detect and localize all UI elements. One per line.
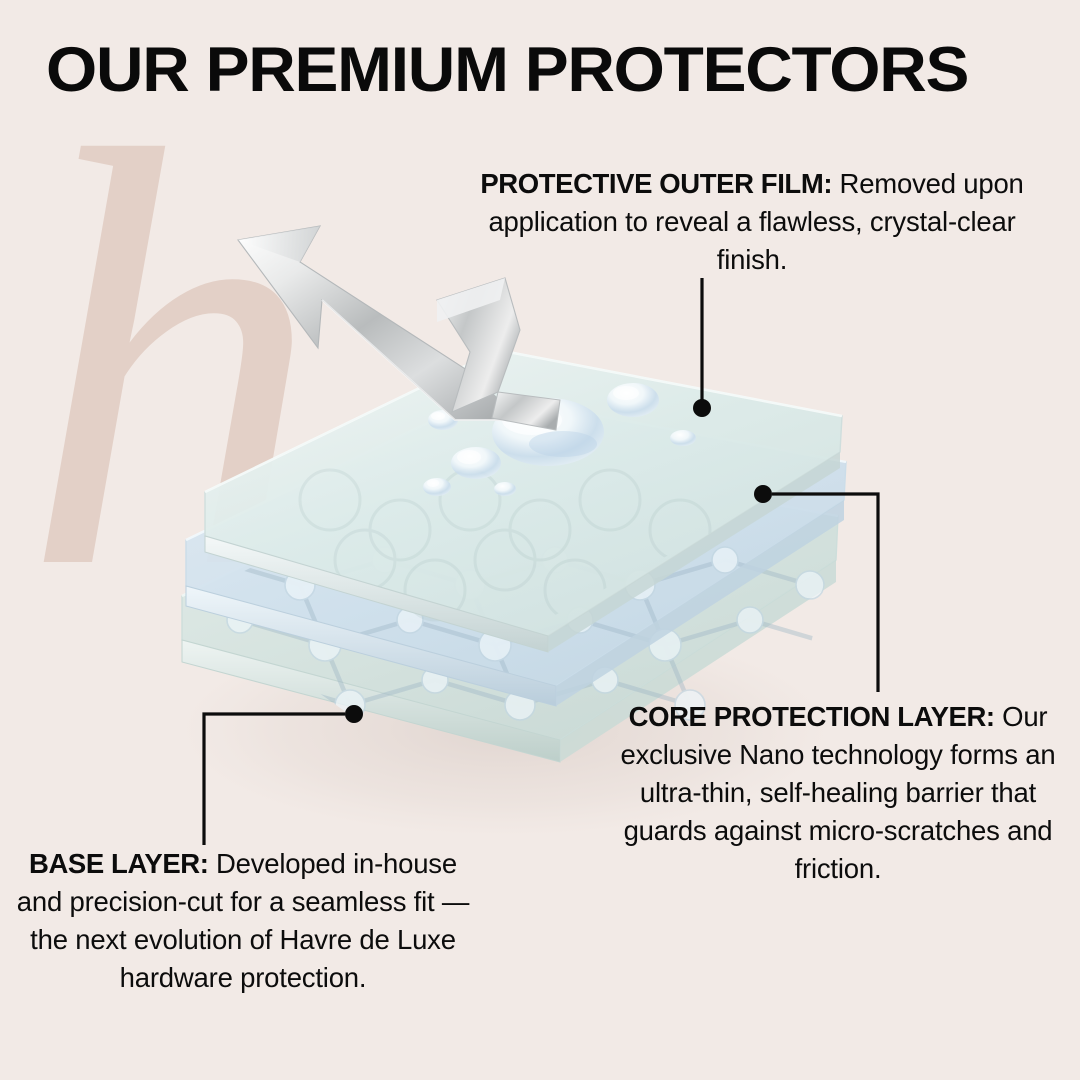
callout-protective-outer-film: PROTECTIVE OUTER FILM: Removed upon appl… bbox=[468, 165, 1036, 279]
callout-base-layer: BASE LAYER: Developed in-house and preci… bbox=[8, 845, 478, 997]
callout-heading-film: PROTECTIVE OUTER FILM: bbox=[480, 168, 832, 199]
callout-heading-base: BASE LAYER: bbox=[29, 848, 208, 879]
callout-core-protection-layer: CORE PROTECTION LAYER: Our exclusive Nan… bbox=[602, 698, 1074, 888]
callout-heading-core: CORE PROTECTION LAYER: bbox=[629, 701, 995, 732]
infographic-canvas: h OUR PREMIUM PROTECTORS bbox=[0, 0, 1080, 1080]
page-title: OUR PREMIUM PROTECTORS bbox=[46, 34, 1080, 106]
